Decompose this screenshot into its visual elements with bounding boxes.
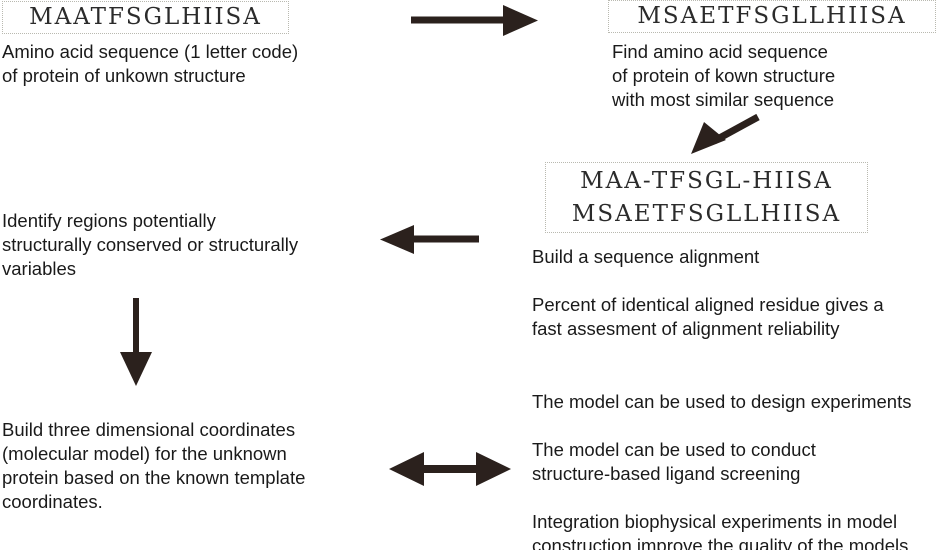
design-experiments-caption: The model can be used to design experime… [532, 390, 950, 414]
percent-identical-caption: Percent of identical aligned residue giv… [532, 293, 950, 341]
unknown-sequence-text: MAATFSGLHIISA [3, 1, 288, 34]
arrow-right-icon [408, 4, 540, 38]
identify-regions-caption: Identify regions potentially structurall… [2, 209, 362, 281]
build-coordinates-caption: Build three dimensional coordinates (mol… [2, 418, 362, 514]
unknown-sequence-caption: Amino acid sequence (1 letter code) of p… [2, 40, 362, 88]
known-sequence-box: MSAETFSGLLHIISA [608, 0, 936, 33]
arrow-left-icon [378, 224, 482, 256]
known-sequence-text: MSAETFSGLLHIISA [609, 0, 935, 33]
arrow-diagonal-down-left-icon [688, 112, 766, 160]
alignment-bottom-text: MSAETFSGLLHIISA [546, 198, 867, 231]
ligand-screening-caption: The model can be used to conduct structu… [532, 438, 950, 486]
diagram-canvas: MAATFSGLHIISA Amino acid sequence (1 let… [0, 0, 950, 550]
alignment-box: MAA-TFSGL-HIISA MSAETFSGLLHIISA [545, 162, 868, 233]
unknown-sequence-box: MAATFSGLHIISA [2, 1, 289, 34]
arrow-down-icon [118, 296, 156, 388]
alignment-top-text: MAA-TFSGL-HIISA [546, 165, 867, 198]
find-known-sequence-caption: Find amino acid sequence of protein of k… [612, 40, 950, 112]
integration-caption: Integration biophysical experiments in m… [532, 510, 950, 550]
build-alignment-caption: Build a sequence alignment [532, 245, 950, 269]
arrow-double-horizontal-icon [386, 448, 514, 490]
